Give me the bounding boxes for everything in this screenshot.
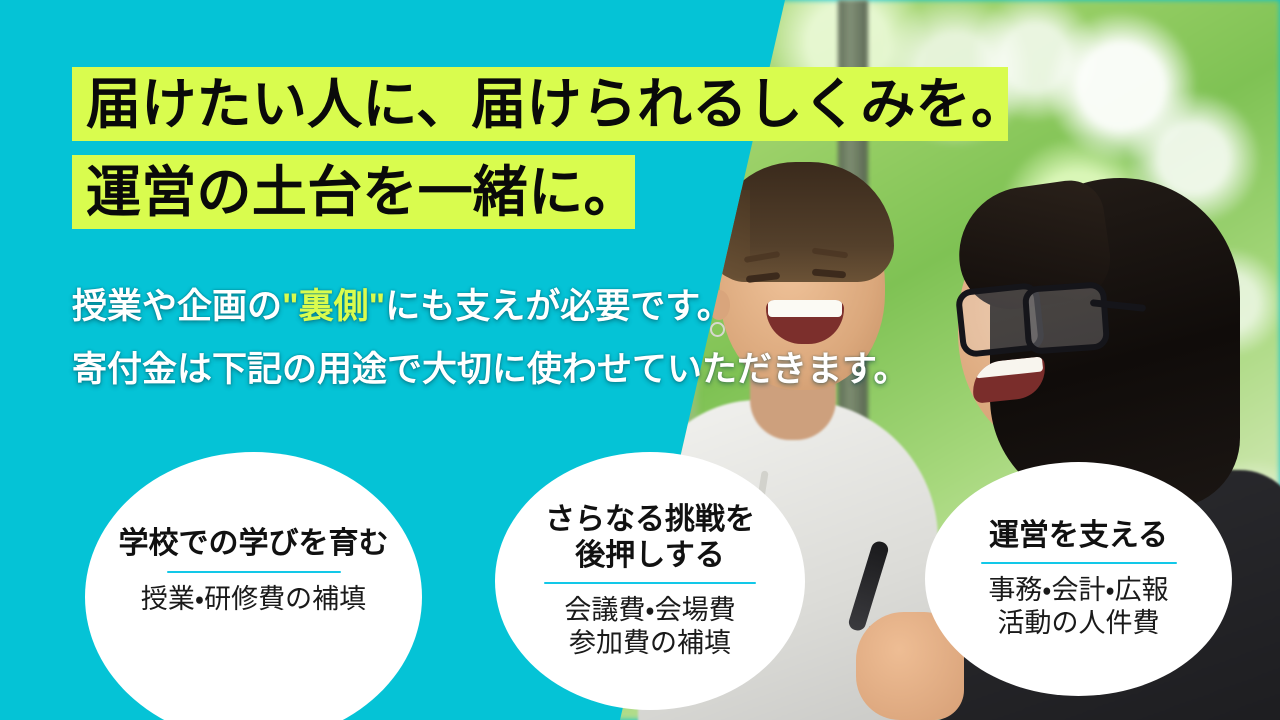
bubble-1-title: 学校での学びを育む — [119, 526, 389, 561]
subtitle-line-2: 寄付金は下記の用途で大切に使わせていただきます。 — [72, 352, 909, 387]
bubble-3-divider — [981, 562, 1177, 564]
bubble-3-body: 事務・会計・広報 活動の人件費 — [988, 574, 1168, 640]
bubble-2-body: 会議費・会場費 参加費の補填 — [564, 594, 735, 660]
headline-line-2: 運営の土台を一緒に。 — [86, 165, 639, 220]
bubble-2-title: さらなる挑戦を 後押しする — [545, 502, 755, 573]
glasses-icon — [958, 286, 1108, 344]
bubble-1-divider — [167, 571, 341, 573]
glasses-lens-right — [1022, 281, 1111, 355]
bubble-3-title: 運営を支える — [989, 518, 1168, 553]
subtitle-line-1-after: にも支えが必要です。 — [385, 287, 732, 326]
banner-canvas: 届けたい人に、届けられるしくみを。 運営の土台を一緒に。 授業や企画の"裏側"に… — [0, 0, 1280, 720]
bubble-1-body: 授業・研修費の補填 — [141, 583, 366, 616]
headline-band-2: 運営の土台を一緒に。 — [72, 155, 635, 229]
bubble-2-divider — [544, 582, 756, 584]
subtitle-highlight-urakawa: "裏側" — [282, 287, 385, 326]
subtitle-line-1-before: 授業や企画の — [72, 287, 282, 326]
headline-line-1: 届けたい人に、届けられるしくみを。 — [86, 77, 1026, 132]
bubble-operations: 運営を支える 事務・会計・広報 活動の人件費 — [925, 462, 1232, 696]
headline-band-1: 届けたい人に、届けられるしくみを。 — [72, 67, 1008, 141]
bubble-school-learning: 学校での学びを育む 授業・研修費の補填 — [85, 452, 422, 720]
subtitle-line-1: 授業や企画の"裏側"にも支えが必要です。 — [72, 289, 732, 324]
bubble-new-challenge: さらなる挑戦を 後押しする 会議費・会場費 参加費の補填 — [495, 452, 805, 710]
